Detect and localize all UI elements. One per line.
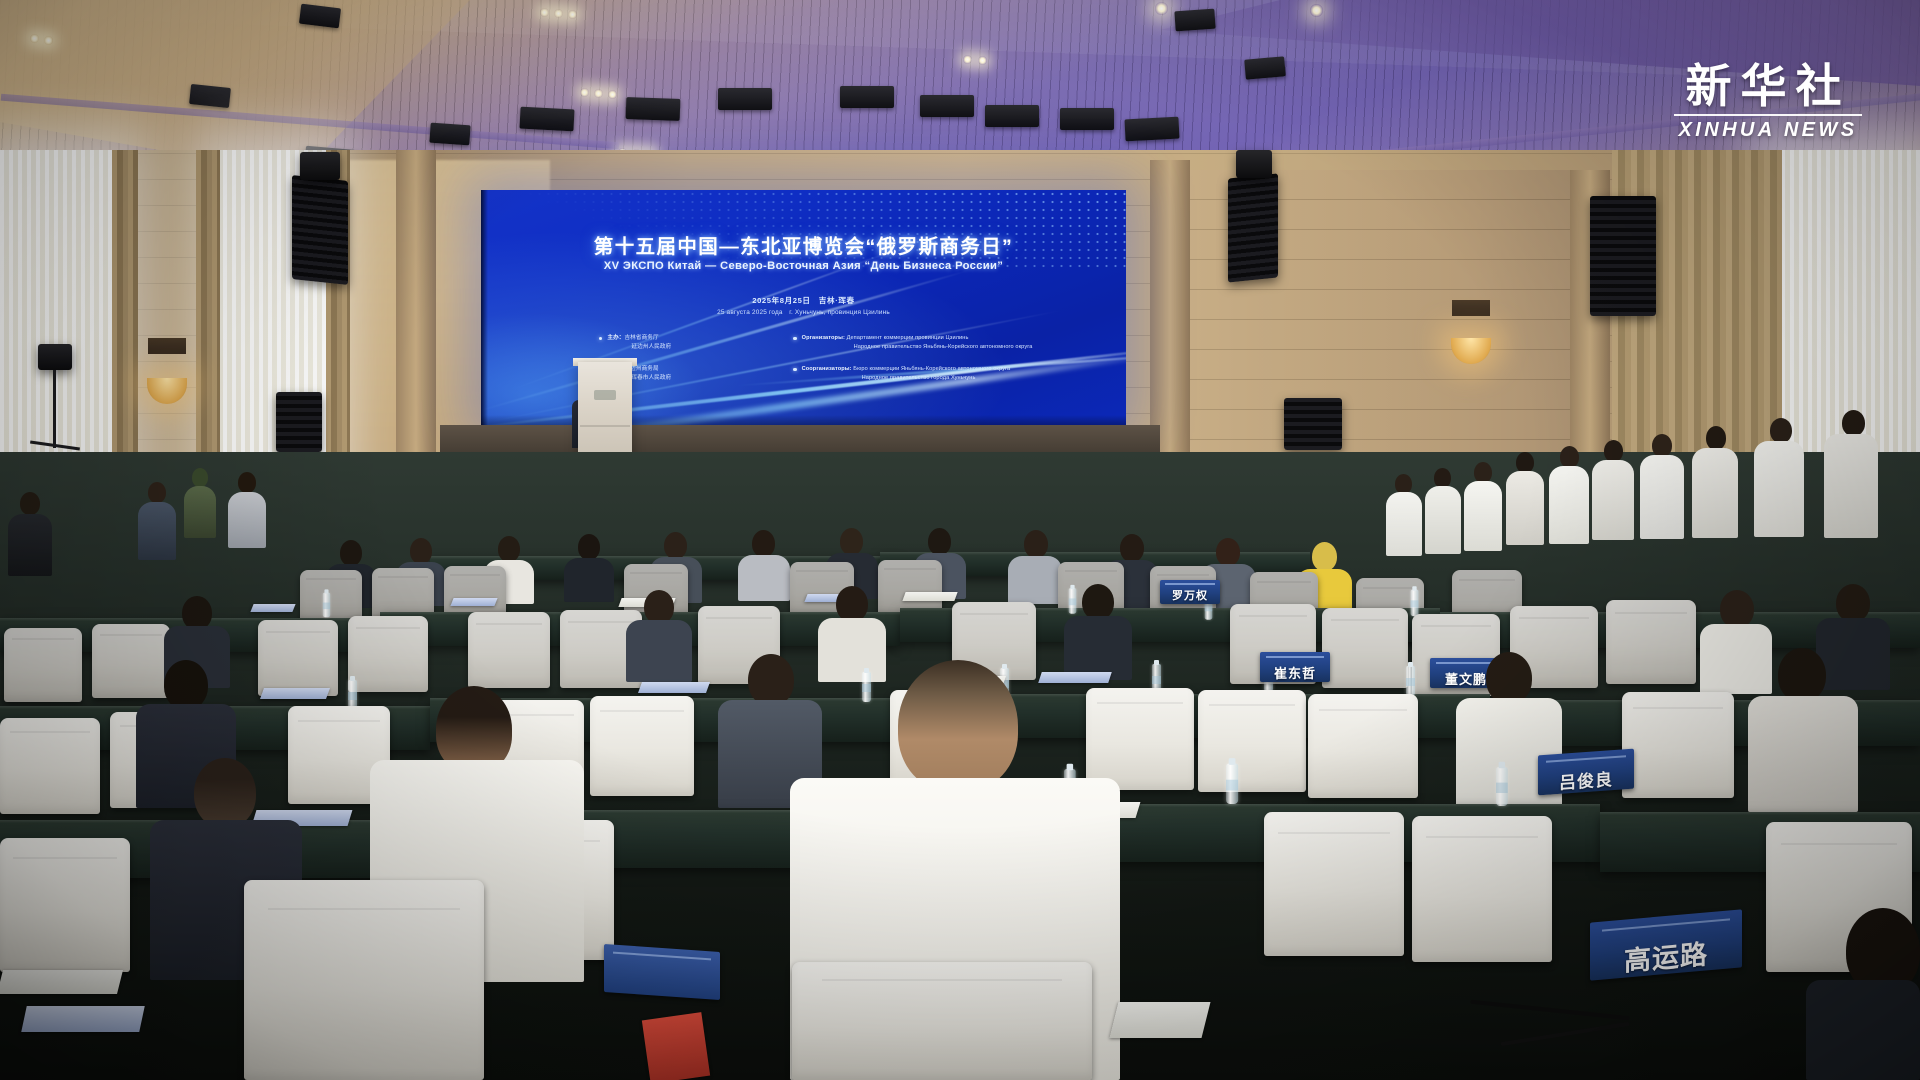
ceiling-spot-light [594, 89, 603, 98]
ceiling-spot-light [44, 36, 53, 45]
bullet-row: Соорганизаторы: Бюро коммерции Яньбянь-К… [793, 365, 1104, 383]
chair-with-white-cover [348, 616, 428, 692]
placard-name: 吕俊良 [1559, 771, 1613, 794]
bullet-text: 主办：吉林省商务厅 延边州人民政府 [607, 334, 671, 352]
stage-light-fixture [840, 86, 894, 108]
speaking-podium [578, 362, 632, 464]
watermark-logo-english: XINHUA NEWS [1674, 119, 1862, 142]
bullet-dot-icon [793, 368, 796, 371]
chair-with-white-cover [1412, 816, 1552, 962]
document-on-table [0, 970, 123, 994]
stage-light-fixture [519, 107, 574, 132]
screen-edge-shadow [481, 190, 488, 427]
placard-name: 崔东哲 [1274, 667, 1316, 682]
stage-light-fixture [985, 105, 1039, 127]
stage-light-fixture [626, 97, 681, 121]
bullet-dot-icon [793, 337, 796, 340]
tripod-stand [53, 370, 56, 448]
watermark-logo-chinese: 新华社 [1674, 62, 1862, 110]
stage-light-fixture [189, 84, 231, 108]
document-on-table [250, 604, 295, 612]
stage-light-fixture [1244, 56, 1286, 79]
podium-panel-line [580, 425, 630, 427]
document-on-table [638, 682, 710, 693]
bullet-row: 主办：吉林省商务厅 延边州人民政府 [599, 334, 793, 352]
chair-with-white-cover [1622, 692, 1734, 798]
pa-speaker-left [292, 175, 348, 285]
placard-name: 董文鹏 [1445, 673, 1487, 688]
chair-with-white-cover [258, 620, 338, 696]
ceiling-spot-light [540, 8, 549, 17]
pa-speaker-far-right [1590, 196, 1656, 316]
ceiling-spot-light [1155, 2, 1168, 15]
bullet-dot-icon [599, 337, 602, 340]
document-on-table [260, 688, 330, 699]
pa-speaker-right [1228, 173, 1278, 282]
chair-with-white-cover [0, 838, 130, 972]
document-on-table [450, 598, 497, 606]
sconce-mount [148, 338, 186, 354]
stage-light-fixture [429, 123, 470, 146]
wall-column [396, 150, 436, 500]
water-bottle [1226, 764, 1238, 805]
chair-with-white-cover [244, 880, 484, 1080]
document-on-table [21, 1006, 145, 1032]
ceiling-spot-light [554, 9, 563, 18]
document-on-table [902, 592, 957, 601]
water-bottle [323, 593, 330, 618]
placard-header-line [1602, 919, 1730, 932]
podium-emblem [594, 390, 616, 400]
placard-header-line [1546, 755, 1627, 763]
chair-with-white-cover [1322, 608, 1408, 688]
placard-header-line [613, 951, 710, 960]
name-placard[interactable]: 罗万权 [1160, 580, 1220, 604]
pa-speaker-bracket [300, 152, 340, 180]
placard-header-line [1165, 583, 1215, 585]
chair-with-white-cover [0, 718, 100, 814]
screen-title-russian: XV ЭКСПО Китай — Северо-Восточная Азия “… [481, 260, 1126, 272]
screen-date-chinese: 2025年8月25日 吉林·珲春 [481, 295, 1126, 306]
name-placard[interactable]: 崔东哲 [1260, 652, 1330, 682]
chair-with-white-cover [1606, 600, 1696, 684]
chair-with-white-cover [1264, 812, 1404, 956]
pa-speaker-bracket [1236, 150, 1272, 178]
water-bottle [1496, 767, 1508, 806]
bullet-row: Организаторы: Департамент коммерции пров… [793, 334, 1104, 352]
water-bottle [1069, 588, 1077, 614]
stage-light-fixture [718, 88, 772, 110]
red-folder-on-table [642, 1012, 710, 1080]
floor-monitor-speaker [276, 392, 322, 452]
stage-light-fixture [1174, 9, 1215, 32]
stage-light-fixture [1060, 108, 1114, 130]
ceiling-spot-light [568, 10, 577, 19]
chair-with-white-cover [792, 962, 1092, 1080]
screen-date-russian: 25 августа 2025 года г. Хуньчунь, провин… [481, 307, 1126, 316]
stage-light-fixture [1124, 117, 1179, 142]
placard-name: 罗万权 [1172, 591, 1208, 604]
document-on-table [1038, 672, 1112, 683]
placard-header-line [1436, 662, 1497, 664]
water-bottle [1411, 590, 1419, 616]
sconce-mount [1452, 300, 1490, 316]
bullet-text: Соорганизаторы: Бюро коммерции Яньбянь-К… [802, 365, 1011, 383]
ceiling-spot-light [963, 55, 972, 64]
ceiling-spot-light [30, 34, 39, 43]
document-on-table [1110, 1002, 1211, 1038]
water-bottle [1406, 666, 1415, 696]
stage-light-fixture [920, 95, 974, 117]
name-placard[interactable]: 吕俊良 [1538, 749, 1634, 796]
broadcast-frame: 第十五届中国—东北亚博览会“俄罗斯商务日” XV ЭКСПО Китай — С… [0, 0, 1920, 1080]
chair-with-white-cover [468, 612, 550, 688]
screen-bullets-russian: Организаторы: Департамент коммерции пров… [793, 334, 1104, 396]
chair-with-white-cover [1308, 694, 1418, 798]
conference-hall-room: 第十五届中国—东北亚博览会“俄罗斯商务日” XV ЭКСПО Китай — С… [0, 0, 1920, 1080]
ceiling-spot-light [1310, 4, 1323, 17]
screen-title-chinese: 第十五届中国—东北亚博览会“俄罗斯商务日” [481, 230, 1126, 259]
watermark-divider [1674, 114, 1862, 116]
name-placard[interactable] [604, 944, 720, 1000]
ceiling-spot-light [580, 88, 589, 97]
placard-header-line [1266, 656, 1325, 658]
ceiling-spot-light [608, 90, 617, 99]
water-bottle [862, 672, 871, 702]
xinhua-watermark: 新华社 XINHUA NEWS [1674, 62, 1862, 142]
chair-with-white-cover [1086, 688, 1194, 790]
chair-with-white-cover [590, 696, 694, 796]
chair-with-white-cover [4, 628, 82, 702]
chair-with-white-cover [1198, 690, 1306, 792]
ceiling-spot-light [978, 56, 987, 65]
floor-monitor-speaker [1284, 398, 1342, 450]
bullet-text: Организаторы: Департамент коммерции пров… [802, 334, 1033, 352]
chair-with-white-cover [92, 624, 170, 698]
camera-monitor [38, 344, 72, 370]
